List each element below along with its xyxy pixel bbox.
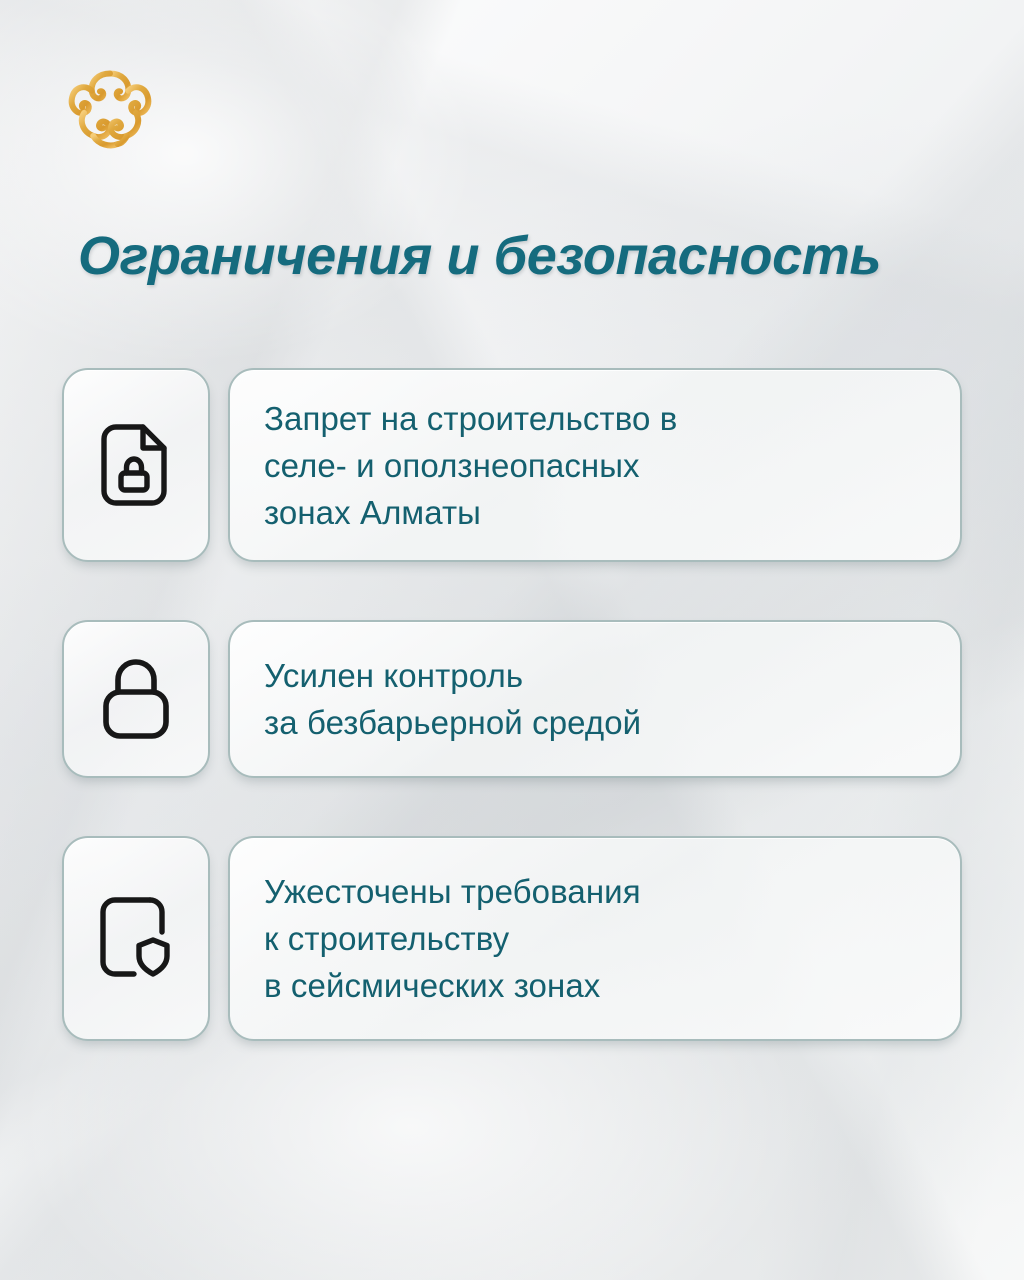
padlock-icon [100, 658, 172, 740]
card-text: Запрет на строительство в селе- и оползн… [264, 395, 677, 536]
card-text-container: Ужесточены требования к строительству в … [228, 836, 962, 1041]
card-text-container: Запрет на строительство в селе- и оползн… [228, 368, 962, 562]
icon-tile [62, 368, 210, 562]
icon-tile [62, 836, 210, 1041]
icon-tile [62, 620, 210, 778]
list-item: Запрет на строительство в селе- и оползн… [62, 368, 962, 562]
card-text: Усилен контроль за безбарьерной средой [264, 652, 641, 746]
page-title: Ограничения и безопасность [78, 225, 958, 287]
card-text-container: Усилен контроль за безбарьерной средой [228, 620, 962, 778]
list-item: Усилен контроль за безбарьерной средой [62, 620, 962, 778]
document-lock-icon [99, 423, 173, 507]
kazakh-ornament-logo-icon [62, 62, 158, 158]
device-shield-icon [98, 896, 174, 982]
cards-list: Запрет на строительство в селе- и оползн… [62, 368, 962, 1041]
card-text: Ужесточены требования к строительству в … [264, 868, 641, 1009]
list-item: Ужесточены требования к строительству в … [62, 836, 962, 1041]
slide-page: Ограничения и безопасность [0, 0, 1024, 1280]
